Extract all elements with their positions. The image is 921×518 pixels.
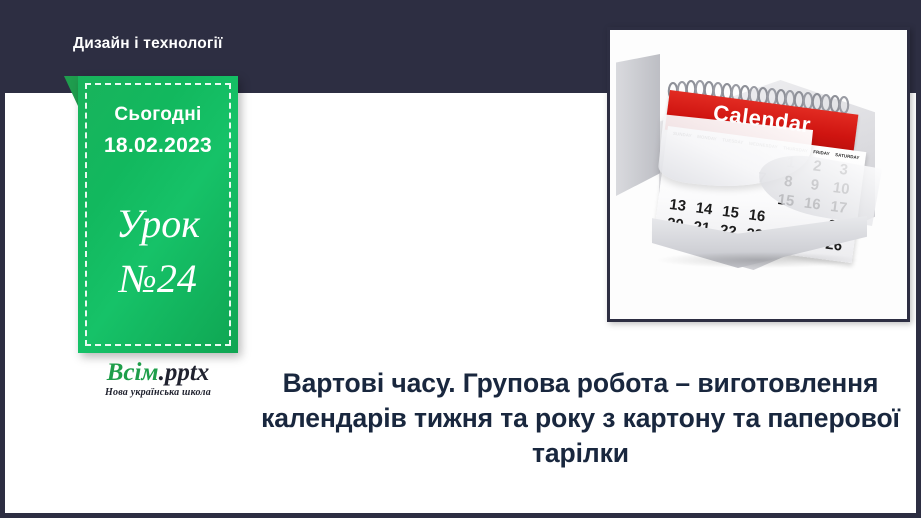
frame-edge-bottom xyxy=(0,513,921,518)
brand-name-dark: .pptx xyxy=(159,359,210,386)
brand-tagline: Нова українська школа xyxy=(78,387,238,398)
subject-title: Дизайн і технології xyxy=(73,35,223,53)
lesson-card-body: Сьогодні 18.02.2023 Урок №24 xyxy=(78,76,238,353)
calendar-drop-shadow xyxy=(658,252,858,268)
brand-logo: Всім.pptx Нова українська школа xyxy=(78,360,238,398)
calendar-day-cell: 13 xyxy=(665,195,691,215)
today-label: Сьогодні xyxy=(78,104,238,126)
page-title: Вартові часу. Групова робота – виготовле… xyxy=(258,366,903,472)
calendar-weekday: FRIDAY xyxy=(813,149,830,156)
today-date: 18.02.2023 xyxy=(78,134,238,158)
calendar-illustration: Calendar SUNDAYMONDAYTUESDAYWEDNESDAYTHU… xyxy=(610,30,907,319)
calendar-day-cell: 15 xyxy=(718,202,744,222)
brand-name-green: Всім xyxy=(107,359,159,386)
calendar-weekday: SATURDAY xyxy=(835,152,860,160)
calendar-day-cell xyxy=(720,184,746,204)
calendar-day-cell: 16 xyxy=(744,206,770,226)
lesson-number: №24 xyxy=(78,259,238,299)
lesson-word: Урок xyxy=(78,204,238,244)
lesson-card: Сьогодні 18.02.2023 Урок №24 xyxy=(78,76,238,353)
calendar-image-frame: Calendar SUNDAYMONDAYTUESDAYWEDNESDAYTHU… xyxy=(607,27,910,322)
frame-edge-right xyxy=(916,0,921,518)
ribbon-tail-icon xyxy=(64,76,78,106)
calendar-day-cell: 14 xyxy=(691,199,717,219)
brand-name: Всім.pptx xyxy=(78,360,238,386)
frame-edge-left xyxy=(0,0,5,518)
calendar-spine xyxy=(616,54,660,196)
